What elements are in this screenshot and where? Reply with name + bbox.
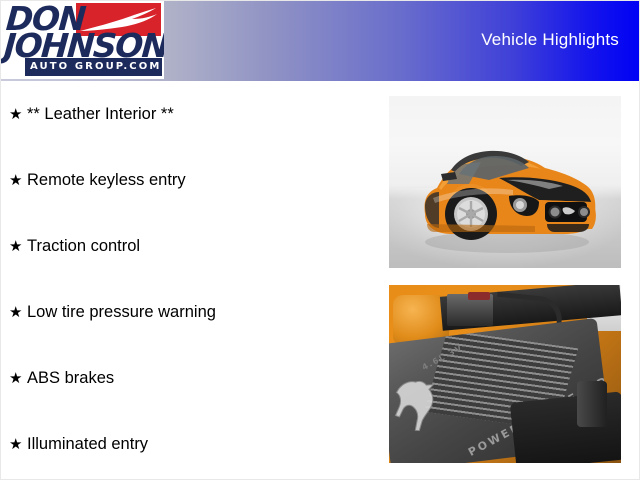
highlight-label: Low tire pressure warning <box>27 303 216 321</box>
pony-emblem-icon <box>389 374 446 434</box>
list-item: ★ ** Leather Interior ** <box>9 105 174 123</box>
page-title: Vehicle Highlights <box>481 30 619 50</box>
logo-tagline: AUTO GROUP.COM <box>30 61 161 73</box>
star-bullet-icon: ★ <box>9 371 27 386</box>
highlight-label: Remote keyless entry <box>27 171 186 189</box>
page-header: DON JOHNSON AUTO GROUP.COM Vehicle Highl… <box>1 1 640 81</box>
battery-terminal-cover <box>468 292 490 300</box>
engine-bay-photo[interactable]: 4.6L 3V POWERED BY FORD <box>389 285 621 463</box>
list-item: ★ Low tire pressure warning <box>9 303 216 321</box>
highlight-label: ABS brakes <box>27 369 114 387</box>
highlight-label: Illuminated entry <box>27 435 148 453</box>
list-item: ★ Remote keyless entry <box>9 171 186 189</box>
vehicle-highlights-list: ★ ** Leather Interior ** ★ Remote keyles… <box>1 81 381 480</box>
engine-bracket <box>577 381 607 427</box>
list-item: ★ Illuminated entry <box>9 435 148 453</box>
dealer-logo[interactable]: DON JOHNSON AUTO GROUP.COM <box>1 1 164 79</box>
highlight-label: ** Leather Interior ** <box>27 105 174 123</box>
star-bullet-icon: ★ <box>9 305 27 320</box>
vehicle-exterior-photo[interactable] <box>389 96 621 268</box>
star-bullet-icon: ★ <box>9 107 27 122</box>
coupe-illustration <box>389 96 621 268</box>
star-bullet-icon: ★ <box>9 437 27 452</box>
star-bullet-icon: ★ <box>9 173 27 188</box>
vehicle-highlights-page: DON JOHNSON AUTO GROUP.COM Vehicle Highl… <box>0 0 640 480</box>
highlight-label: Traction control <box>27 237 140 255</box>
list-item: ★ ABS brakes <box>9 369 114 387</box>
star-bullet-icon: ★ <box>9 239 27 254</box>
list-item: ★ Traction control <box>9 237 140 255</box>
